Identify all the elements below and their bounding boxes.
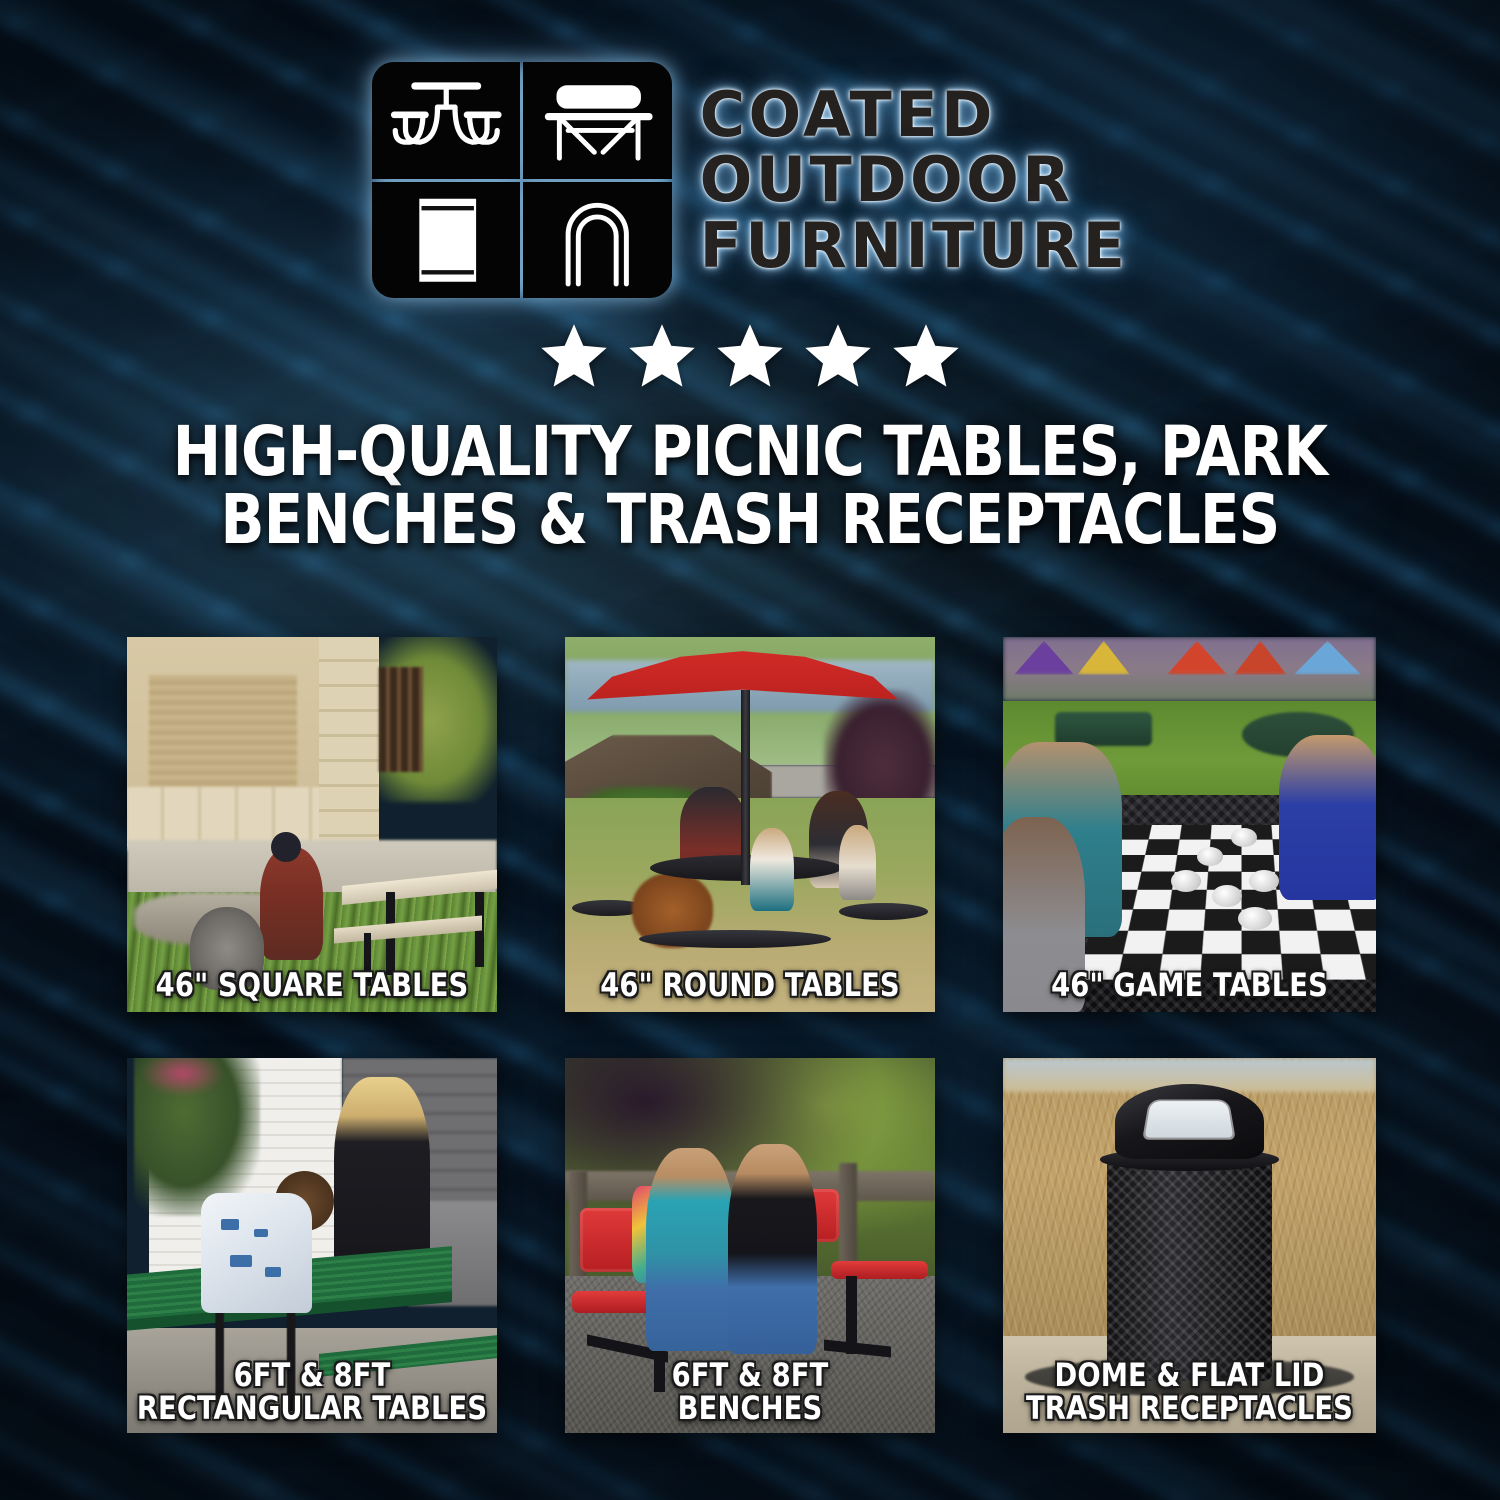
star-icon	[625, 320, 699, 392]
caption-line-1: 46" ROUND TABLES	[574, 969, 926, 1002]
star-rating	[537, 320, 963, 392]
headline-line-2: BENCHES & TRASH RECEPTACLES	[132, 486, 1369, 554]
promo-poster: COATED OUTDOOR FURNITURE HIGH-QUALITY PI…	[0, 0, 1500, 1500]
caption-line-2: BENCHES	[574, 1392, 926, 1425]
product-caption: 6FT & 8FT RECTANGULAR TABLES	[136, 1359, 488, 1425]
product-tile-game-tables[interactable]: 46" GAME TABLES	[1003, 637, 1376, 1012]
product-tile-rectangular-tables[interactable]: 6FT & 8FT RECTANGULAR TABLES	[127, 1058, 497, 1433]
brand-name-line-3: FURNITURE	[700, 214, 1129, 277]
caption-line-2: TRASH RECEPTACLES	[1012, 1392, 1366, 1425]
caption-line-1: 6FT & 8FT	[136, 1359, 488, 1392]
product-caption: 46" ROUND TABLES	[574, 969, 926, 1002]
product-tile-benches[interactable]: 6FT & 8FT BENCHES	[565, 1058, 935, 1433]
brand-name-line-2: OUTDOOR	[700, 148, 1129, 211]
company-logo	[372, 62, 672, 298]
product-grid: 46" SQUARE TABLES	[127, 637, 1373, 1433]
caption-line-1: 6FT & 8FT	[574, 1359, 926, 1392]
product-tile-square-tables[interactable]: 46" SQUARE TABLES	[127, 637, 497, 1012]
brand-lockup: COATED OUTDOOR FURNITURE	[372, 62, 1129, 298]
product-caption: 46" SQUARE TABLES	[136, 969, 488, 1002]
star-icon	[801, 320, 875, 392]
caption-line-1: DOME & FLAT LID	[1012, 1359, 1366, 1392]
caption-line-1: 46" GAME TABLES	[1012, 969, 1366, 1002]
headline-line-1: HIGH-QUALITY PICNIC TABLES, PARK	[132, 418, 1369, 486]
caption-line-2: RECTANGULAR TABLES	[136, 1392, 488, 1425]
product-caption: DOME & FLAT LID TRASH RECEPTACLES	[1012, 1359, 1366, 1425]
product-photo-square-tables	[127, 637, 497, 1012]
picnic-table-icon	[372, 62, 521, 179]
product-caption: 6FT & 8FT BENCHES	[574, 1359, 926, 1425]
brand-wordmark: COATED OUTDOOR FURNITURE	[700, 83, 1129, 277]
star-icon	[713, 320, 787, 392]
caption-line-1: 46" SQUARE TABLES	[136, 969, 488, 1002]
product-tile-trash-receptacles[interactable]: DOME & FLAT LID TRASH RECEPTACLES	[1003, 1058, 1376, 1433]
product-photo-game-tables	[1003, 637, 1376, 1012]
poster-header: COATED OUTDOOR FURNITURE HIGH-QUALITY PI…	[0, 62, 1500, 555]
product-caption: 46" GAME TABLES	[1012, 969, 1366, 1002]
page-title: HIGH-QUALITY PICNIC TABLES, PARK BENCHES…	[132, 418, 1369, 555]
trash-receptacle-icon	[372, 182, 521, 299]
product-tile-round-tables[interactable]: 46" ROUND TABLES	[565, 637, 935, 1012]
brand-name-line-1: COATED	[700, 83, 1129, 146]
star-icon	[889, 320, 963, 392]
bike-rack-icon	[523, 182, 672, 299]
star-icon	[537, 320, 611, 392]
product-photo-round-tables	[565, 637, 935, 1012]
park-bench-icon	[523, 62, 672, 179]
